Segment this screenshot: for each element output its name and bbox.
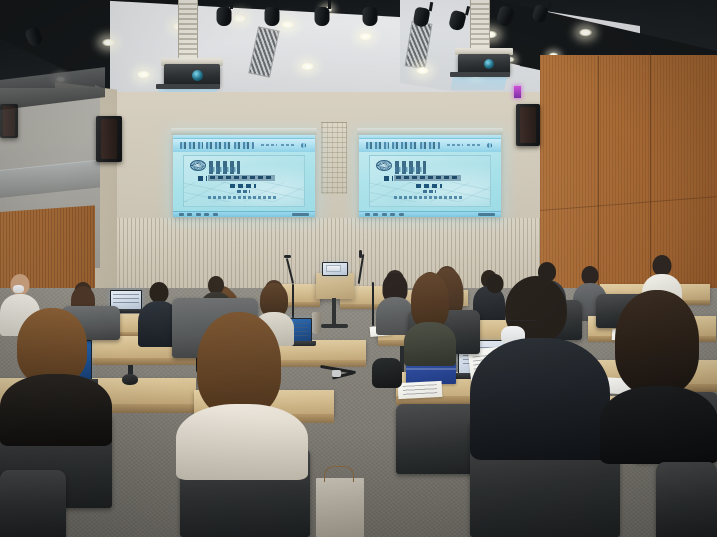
loudspeaker-far-left — [0, 104, 18, 138]
speaker-cone — [3, 106, 15, 136]
taskbar-zoom-slider[interactable] — [478, 213, 495, 216]
taskbar-zoom-slider[interactable] — [292, 213, 309, 216]
ppt-ribbon-left — [173, 139, 315, 152]
university-subtitle — [395, 167, 421, 172]
left-projection-screen[interactable] — [173, 135, 315, 217]
attendee-p8 — [404, 272, 456, 362]
confidence-monitor — [322, 262, 348, 276]
face-mask — [13, 285, 24, 293]
backpack-on-floor — [372, 358, 402, 388]
lectern-base — [321, 324, 348, 328]
presentation-slide-left — [183, 155, 305, 207]
chair-foreground-far-right[interactable] — [656, 462, 717, 537]
screen-roller-housing-right — [357, 128, 503, 135]
loudspeaker-left — [96, 116, 122, 162]
ppt-slide-canvas-left — [173, 152, 315, 211]
torso — [404, 322, 456, 366]
taskbar-icon-2[interactable] — [373, 213, 378, 216]
tote-bag-foreground — [316, 478, 364, 537]
lecture-room-photo — [0, 0, 717, 537]
spotlight-arm — [230, 0, 233, 9]
taskbar-icon-3[interactable] — [382, 213, 387, 216]
hair — [197, 312, 281, 416]
scissor-lift-column-left — [178, 0, 198, 62]
spotlight-head — [448, 10, 467, 32]
binder-band — [406, 368, 456, 370]
power-strip — [332, 370, 341, 377]
spotlight-head — [412, 6, 430, 27]
projector-lens-right — [484, 59, 494, 69]
decorative-wall-panel — [321, 122, 347, 194]
torso — [0, 374, 112, 446]
downlight-1 — [101, 38, 116, 47]
handout-midright — [398, 381, 443, 399]
slide-title-prefix — [384, 176, 392, 180]
presenter-name — [423, 190, 436, 193]
ppt-slide-canvas-right — [359, 152, 501, 211]
monitor-window — [326, 265, 341, 272]
ribbon-account-icon — [487, 143, 493, 147]
track-spotlight-3 — [322, 0, 337, 26]
taskbar-icon-5[interactable] — [213, 213, 218, 216]
lift-base-shadow-left — [156, 84, 220, 89]
torso — [600, 386, 717, 464]
ribbon-group-1 — [366, 142, 389, 149]
slide-footer-line — [208, 196, 278, 198]
status-indicator-light — [514, 86, 521, 98]
slide-subtitle — [416, 184, 442, 188]
attendee-p2 — [0, 308, 112, 438]
downlight-8 — [136, 70, 151, 79]
downlight-10 — [300, 62, 315, 71]
attendee-p14 — [176, 312, 308, 472]
university-subtitle — [209, 167, 235, 172]
hair — [411, 273, 449, 329]
taskbar-icon-3[interactable] — [196, 213, 201, 216]
right-projection-screen[interactable] — [359, 135, 501, 217]
slide-footer-line — [394, 196, 464, 198]
spotlight-arm — [278, 0, 281, 9]
ribbon-group-2 — [206, 142, 232, 149]
ppt-ribbon-right — [359, 139, 501, 152]
taskbar-icon-4[interactable] — [390, 213, 395, 216]
projector-lens-left — [192, 70, 203, 81]
lectern-post — [332, 298, 336, 326]
torso — [176, 404, 308, 480]
torso — [470, 338, 610, 460]
computer-mouse-front-left[interactable] — [122, 374, 138, 385]
hair — [615, 290, 699, 394]
ribbon-label-1 — [261, 144, 277, 146]
mic-stand-right — [372, 282, 374, 326]
taskbar-icon-5[interactable] — [399, 213, 404, 216]
attendee-p11 — [600, 290, 717, 460]
chair-foreground-left-edge[interactable] — [0, 470, 66, 537]
downlight-6 — [358, 32, 373, 41]
attendee-p10 — [470, 276, 610, 456]
spotlight-head — [315, 7, 330, 26]
presentation-slide-right — [369, 155, 491, 207]
downlight-7 — [415, 66, 430, 75]
ppt-status-bar-right — [359, 211, 501, 217]
ribbon-label-2 — [467, 144, 480, 146]
hair — [17, 308, 87, 384]
slide-title-prefix — [198, 176, 206, 180]
taskbar-icon-4[interactable] — [204, 213, 209, 216]
head — [653, 255, 672, 276]
ribbon-label-1 — [447, 144, 463, 146]
ribbon-label-2 — [281, 144, 294, 146]
speaker-cone — [520, 107, 535, 144]
scissor-lift-column-right — [470, 0, 490, 52]
tote-bag-handle — [324, 466, 354, 482]
speaker-lectern — [316, 273, 354, 299]
taskbar-icon-1[interactable] — [179, 213, 184, 216]
track-spotlight-4 — [370, 0, 385, 26]
ribbon-group-2 — [392, 142, 418, 149]
spotlight-arm — [328, 0, 331, 9]
screen-roller-housing-left — [171, 128, 317, 135]
ppt-status-bar-left — [173, 211, 315, 217]
university-seal-icon — [190, 160, 206, 171]
ribbon-group-3 — [234, 142, 254, 149]
microphone-capsule-left — [284, 255, 291, 258]
lift-base-shadow-right — [450, 72, 510, 77]
laptop-content — [113, 294, 138, 306]
ribbon-group-3 — [420, 142, 440, 149]
tumbler-row3-left — [312, 312, 321, 334]
university-seal-icon — [376, 160, 392, 171]
taskbar-icon-1[interactable] — [365, 213, 370, 216]
slide-subtitle — [230, 184, 256, 188]
spotlight-head — [217, 7, 232, 26]
head — [150, 282, 169, 303]
spotlight-head — [265, 7, 280, 26]
handout-text — [403, 384, 437, 397]
track-spotlight-2 — [272, 0, 287, 26]
slide-title-selected[interactable] — [394, 175, 461, 180]
track-spotlight-1 — [224, 0, 239, 26]
taskbar-icon-2[interactable] — [187, 213, 192, 216]
slide-title-selected[interactable] — [208, 175, 275, 180]
spotlight-arm — [376, 0, 379, 9]
presenter-name — [237, 190, 250, 193]
microphone-capsule-right — [359, 250, 362, 258]
loudspeaker-right — [516, 104, 540, 146]
downlight-12 — [578, 28, 593, 37]
ribbon-account-icon — [301, 143, 307, 147]
ribbon-group-1 — [180, 142, 203, 149]
spotlight-head — [363, 7, 378, 26]
speaker-cone — [101, 119, 118, 159]
